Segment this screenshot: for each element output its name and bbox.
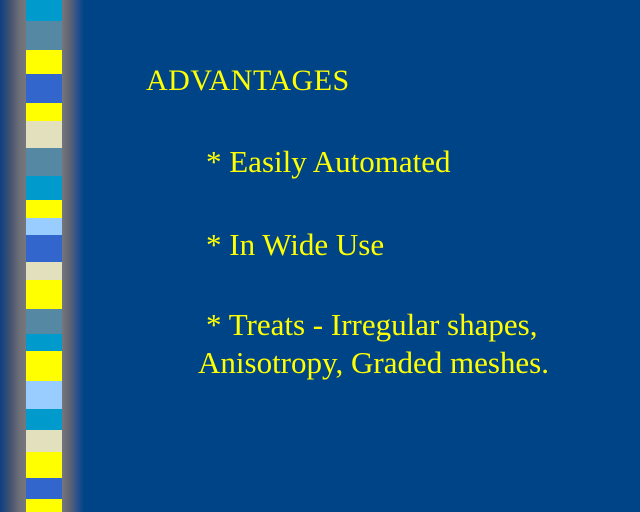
color-band [26, 74, 62, 103]
color-band [26, 351, 62, 382]
color-band [26, 262, 62, 281]
color-band [26, 50, 62, 74]
slide-title: ADVANTAGES [146, 62, 350, 100]
color-band [26, 499, 62, 512]
bullet-item-2: * In Wide Use [206, 226, 384, 264]
bullet-item-3-line-1: * Treats - Irregular shapes, [206, 307, 537, 342]
color-band [26, 309, 62, 335]
strip-shadow-left [0, 0, 26, 512]
color-band [26, 103, 62, 122]
color-band [26, 280, 62, 309]
left-decoration-strip [0, 0, 82, 512]
bullet-item-3: * Treats - Irregular shapes, Anisotropy,… [206, 306, 549, 382]
color-band [26, 218, 62, 236]
color-band [26, 334, 62, 351]
color-band [26, 409, 62, 431]
bullet-item-3-line-2: Anisotropy, Graded meshes. [198, 344, 549, 382]
color-band [26, 452, 62, 479]
color-band [26, 176, 62, 200]
color-band [26, 430, 62, 452]
color-band [26, 121, 62, 149]
color-band-column [26, 0, 62, 512]
color-band [26, 148, 62, 176]
presentation-slide: ADVANTAGES * Easily Automated * In Wide … [0, 0, 640, 512]
color-band [26, 200, 62, 219]
color-band [26, 21, 62, 51]
color-band [26, 381, 62, 410]
strip-shadow-right [62, 0, 84, 512]
bullet-item-1: * Easily Automated [206, 143, 451, 181]
color-band [26, 0, 62, 22]
color-band [26, 478, 62, 500]
color-band [26, 235, 62, 262]
